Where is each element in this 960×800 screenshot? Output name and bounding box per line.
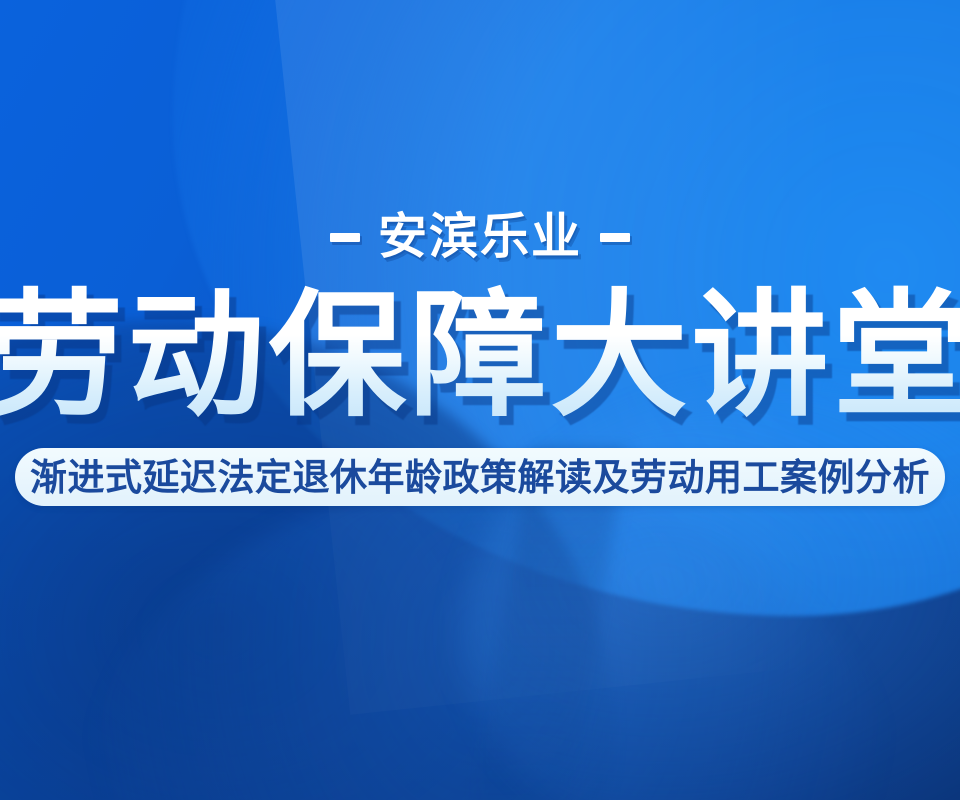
subtitle-pill: 渐进式延迟法定退休年龄政策解读及劳动用工案例分析	[15, 448, 945, 506]
subtitle-text: 渐进式延迟法定退休年龄政策解读及劳动用工案例分析	[30, 459, 930, 496]
eyebrow-brand-text: 安滨乐业	[378, 213, 582, 262]
dash-right-icon	[600, 233, 630, 242]
poster-content: 安滨乐业 劳动保障大讲堂 劳动保障大讲堂 渐进式延迟法定退休年龄政策解读及劳动用…	[0, 0, 960, 800]
eyebrow-line: 安滨乐业	[0, 206, 960, 268]
headline-block: 劳动保障大讲堂 劳动保障大讲堂	[0, 276, 960, 436]
dash-left-icon	[330, 233, 360, 242]
headline-text: 劳动保障大讲堂	[0, 280, 960, 433]
headline: 劳动保障大讲堂 劳动保障大讲堂	[0, 288, 960, 425]
poster-banner: 安滨乐业 劳动保障大讲堂 劳动保障大讲堂 渐进式延迟法定退休年龄政策解读及劳动用…	[0, 0, 960, 800]
